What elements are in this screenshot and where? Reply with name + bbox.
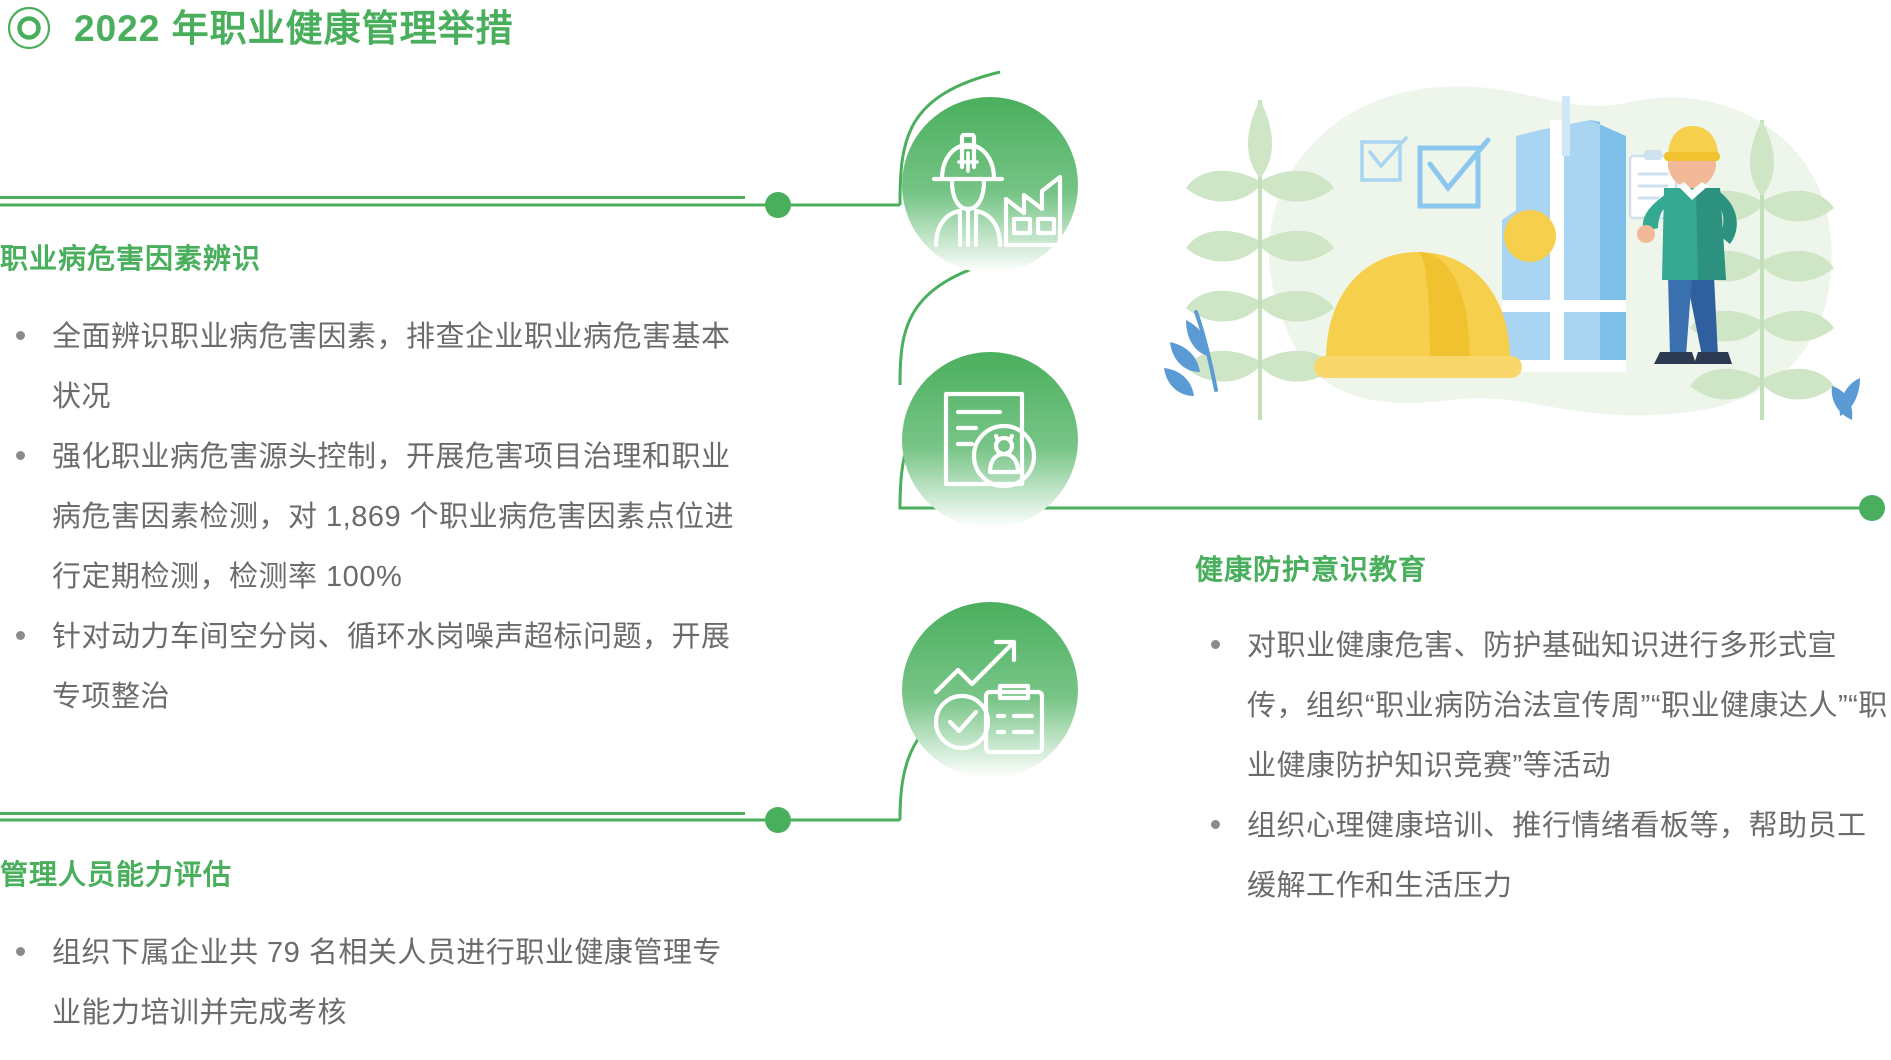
page-title-text: 2022 年职业健康管理举措 [74,10,514,47]
page-title: 2022 年职业健康管理举措 [0,0,514,56]
section-bullet-list: 对职业健康危害、防护基础知识进行多形式宣传，组织“职业病防治法宣传周”“职业健康… [1195,616,1891,916]
list-item-text: 对职业健康危害、防护基础知识进行多形式宣传，组织“职业病防治法宣传周”“职业健康… [1247,630,1888,782]
bullet-dot-icon [1211,820,1220,829]
list-item-text: 组织下属企业共 79 名相关人员进行职业健康管理专业能力培训并完成考核 [52,937,722,1029]
badge-growth-checklist[interactable] [900,600,1080,780]
bullet-dot-icon [16,331,25,340]
list-item: 组织心理健康培训、推行情绪看板等，帮助员工缓解工作和生活压力 [1195,796,1891,916]
list-item-text: 强化职业病危害源头控制，开展危害项目治理和职业病危害因素检测，对 1,869 个… [52,441,734,593]
section-health-awareness-education: 健康防护意识教育 对职业健康危害、防护基础知识进行多形式宣传，组织“职业病防治法… [1195,548,1891,916]
section-hazard-identification: 职业病危害因素辨识 全面辨识职业病危害因素，排查企业职业病危害基本状况 强化职业… [0,196,745,727]
blue-leaf-accent-icon [1832,378,1860,420]
badge-worker-factory[interactable] [900,95,1080,275]
section-bullet-list: 全面辨识职业病危害因素，排查企业职业病危害基本状况 强化职业病危害源头控制，开展… [0,307,745,727]
list-item: 强化职业病危害源头控制，开展危害项目治理和职业病危害因素检测，对 1,869 个… [0,427,745,607]
list-item: 全面辨识职业病危害因素，排查企业职业病危害基本状况 [0,307,745,427]
section-heading: 管理人员能力评估 [0,853,745,893]
blue-sprig-icon [1164,312,1216,396]
target-circle-icon [6,5,52,51]
list-item-text: 全面辨识职业病危害因素，排查企业职业病危害基本状况 [52,321,731,413]
list-item: 对职业健康危害、防护基础知识进行多形式宣传，组织“职业病防治法宣传周”“职业健康… [1195,616,1891,796]
section-divider [0,812,745,815]
timeline-node-3 [765,807,791,833]
list-item-text: 组织心理健康培训、推行情绪看板等，帮助员工缓解工作和生活压力 [1247,810,1867,902]
list-item: 组织下属企业共 79 名相关人员进行职业健康管理专业能力培训并完成考核 [0,923,745,1043]
section-divider [0,196,745,199]
safety-vest-icon [1502,96,1626,372]
badge-health-record[interactable] [900,350,1080,530]
slide-root: 2022 年职业健康管理举措 [0,0,1891,1060]
bullet-dot-icon [16,451,25,460]
bullet-dot-icon [16,947,25,956]
section-heading: 职业病危害因素辨识 [0,237,745,277]
section-manager-capability: 管理人员能力评估 组织下属企业共 79 名相关人员进行职业健康管理专业能力培训并… [0,812,745,1043]
bullet-dot-icon [1211,640,1220,649]
list-item: 针对动力车间空分岗、循环水岗噪声超标问题，开展专项整治 [0,607,745,727]
occupational-health-illustration [1130,60,1890,510]
bullet-dot-icon [16,631,25,640]
timeline-node-1 [765,192,791,218]
section-heading: 健康防护意识教育 [1195,548,1891,588]
list-item-text: 针对动力车间空分岗、循环水岗噪声超标问题，开展专项整治 [52,621,731,713]
section-bullet-list: 组织下属企业共 79 名相关人员进行职业健康管理专业能力培训并完成考核 [0,923,745,1043]
